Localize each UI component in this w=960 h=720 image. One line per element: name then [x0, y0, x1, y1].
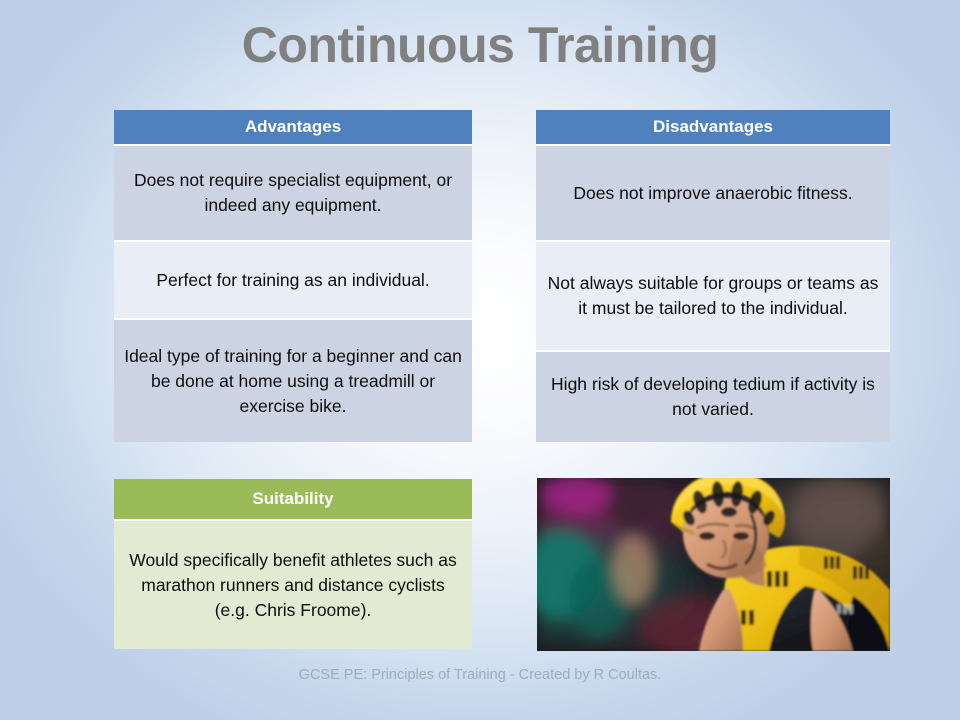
disadvantages-table: Disadvantages Does not improve anaerobic… — [536, 110, 890, 442]
table-row: Would specifically benefit athletes such… — [114, 519, 472, 649]
table-row: Does not require specialist equipment, o… — [114, 144, 472, 240]
suitability-table-header: Suitability — [114, 479, 472, 519]
page-title: Continuous Training — [0, 14, 960, 76]
table-row: High risk of developing tedium if activi… — [536, 350, 890, 442]
advantages-table-header: Advantages — [114, 110, 472, 144]
table-cell: Ideal type of training for a beginner an… — [124, 344, 462, 419]
slide-canvas: Continuous Training Advantages Does not … — [0, 0, 960, 720]
table-cell: Does not require specialist equipment, o… — [124, 168, 462, 218]
cyclist-photo — [537, 478, 890, 651]
cyclist-photo-illustration — [537, 478, 890, 651]
footer-credit: GCSE PE: Principles of Training - Create… — [200, 664, 760, 686]
cyclist-eye-right — [733, 532, 749, 540]
table-cell: High risk of developing tedium if activi… — [546, 372, 880, 422]
disadvantages-table-header: Disadvantages — [536, 110, 890, 144]
table-cell: Does not improve anaerobic fitness. — [546, 181, 880, 206]
advantages-table: Advantages Does not require specialist e… — [114, 110, 472, 442]
suitability-table: Suitability Would specifically benefit a… — [114, 479, 472, 649]
table-row: Perfect for training as an individual. — [114, 240, 472, 318]
table-row: Not always suitable for groups or teams … — [536, 240, 890, 350]
disadvantages-table-body: Does not improve anaerobic fitness. Not … — [536, 144, 890, 442]
suitability-table-body: Would specifically benefit athletes such… — [114, 519, 472, 649]
table-row: Ideal type of training for a beginner an… — [114, 318, 472, 442]
cyclist-eye-left — [699, 532, 715, 540]
advantages-table-body: Does not require specialist equipment, o… — [114, 144, 472, 442]
table-cell: Would specifically benefit athletes such… — [124, 548, 462, 623]
table-cell: Perfect for training as an individual. — [124, 268, 462, 293]
table-cell: Not always suitable for groups or teams … — [546, 271, 880, 321]
table-row: Does not improve anaerobic fitness. — [536, 144, 890, 240]
